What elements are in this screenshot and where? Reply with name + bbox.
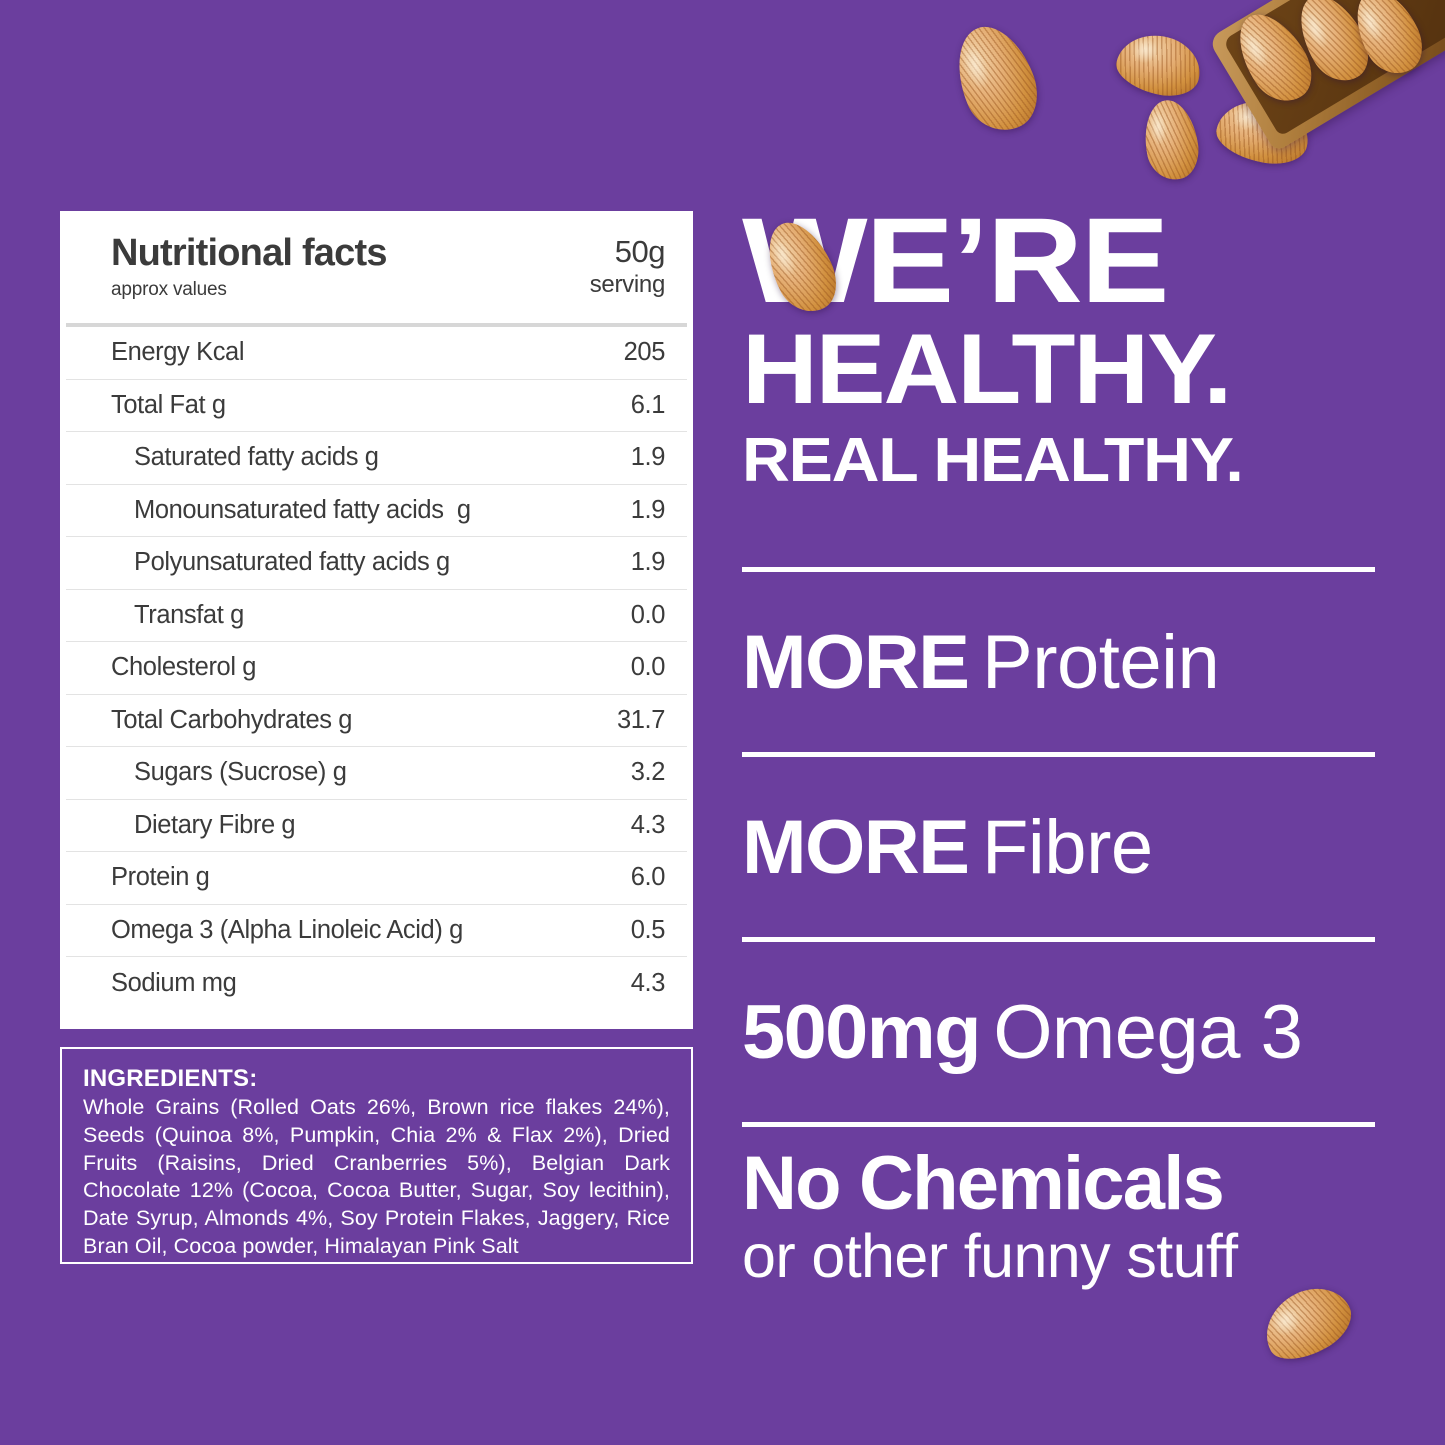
nutrition-row-label: Dietary Fibre g bbox=[134, 811, 295, 840]
ingredients-box: INGREDIENTS: Whole Grains (Rolled Oats 2… bbox=[60, 1047, 693, 1264]
nutrition-row-label: Monounsaturated fatty acids g bbox=[134, 496, 471, 525]
headline-line-2: HEALTHY. bbox=[742, 319, 1416, 418]
nutrition-row: Protein g6.0 bbox=[66, 852, 687, 905]
claim-strong-text: 500mg bbox=[742, 989, 980, 1076]
nutrition-row: Polyunsaturated fatty acids g1.9 bbox=[66, 537, 687, 590]
nutrition-row-label: Energy Kcal bbox=[111, 338, 244, 367]
nutrition-row-label: Protein g bbox=[111, 863, 209, 892]
claim-light-text: or other funny stuff bbox=[742, 1224, 1238, 1288]
nutrition-row-label: Transfat g bbox=[134, 601, 244, 630]
nutrition-row-value: 1.9 bbox=[631, 548, 665, 577]
nutrition-row: Monounsaturated fatty acids g1.9 bbox=[66, 485, 687, 538]
nutrition-row-value: 4.3 bbox=[631, 969, 665, 998]
claim-item: MOREProtein bbox=[742, 572, 1378, 752]
nutrition-row: Total Fat g6.1 bbox=[66, 380, 687, 433]
nutrition-row-label: Polyunsaturated fatty acids g bbox=[134, 548, 450, 577]
nutrition-row: Total Carbohydrates g31.7 bbox=[66, 695, 687, 748]
claim-item: No Chemicalsor other funny stuff bbox=[742, 1127, 1378, 1307]
nutrition-row-value: 1.9 bbox=[631, 496, 665, 525]
nutrition-row-value: 1.9 bbox=[631, 443, 665, 472]
nutrition-row-value: 31.7 bbox=[617, 706, 665, 735]
claim-strong-text: MORE bbox=[742, 804, 968, 891]
ingredients-body: Whole Grains (Rolled Oats 26%, Brown ric… bbox=[83, 1094, 670, 1261]
nutrition-row: Sugars (Sucrose) g3.2 bbox=[66, 747, 687, 800]
nutrition-title: Nutritional facts bbox=[111, 234, 387, 274]
serving-size: 50g serving bbox=[590, 234, 665, 299]
ingredients-title: INGREDIENTS: bbox=[83, 1065, 670, 1093]
claim-light-text: Protein bbox=[982, 619, 1219, 706]
claim-item: MOREFibre bbox=[742, 757, 1378, 937]
nutrition-row: Cholesterol g0.0 bbox=[66, 642, 687, 695]
headline-line-3: REAL HEALTHY. bbox=[742, 430, 1423, 492]
serving-label: serving bbox=[590, 271, 665, 299]
claim-light-text: Omega 3 bbox=[993, 989, 1302, 1076]
claim-item: 500mgOmega 3 bbox=[742, 942, 1378, 1122]
nutrition-row: Transfat g0.0 bbox=[66, 590, 687, 643]
headline: WE’RE HEALTHY. REAL HEALTHY. bbox=[742, 204, 1378, 492]
nutrition-row-label: Total Carbohydrates g bbox=[111, 706, 352, 735]
nutrition-row-value: 6.0 bbox=[631, 863, 665, 892]
serving-amount: 50g bbox=[590, 234, 665, 271]
nutrition-row: Dietary Fibre g4.3 bbox=[66, 800, 687, 853]
nutrition-subtitle: approx values bbox=[111, 279, 387, 301]
nutrition-row: Energy Kcal205 bbox=[66, 327, 687, 380]
nutrition-row-label: Total Fat g bbox=[111, 391, 226, 420]
claim-strong-text: MORE bbox=[742, 619, 968, 706]
claim-strong-text: No Chemicals bbox=[742, 1146, 1223, 1222]
nutrition-row-value: 0.0 bbox=[631, 601, 665, 630]
nutrition-row-label: Saturated fatty acids g bbox=[134, 443, 379, 472]
nutrition-row-value: 205 bbox=[624, 338, 665, 367]
claim-light-text: Fibre bbox=[982, 804, 1153, 891]
nutrition-facts-card: Nutritional facts approx values 50g serv… bbox=[60, 211, 693, 1029]
nutrition-row-value: 4.3 bbox=[631, 811, 665, 840]
nutrition-rows: Energy Kcal205Total Fat g6.1Saturated fa… bbox=[66, 327, 687, 1010]
nutrition-row-value: 3.2 bbox=[631, 758, 665, 787]
claims-list: MOREProteinMOREFibre500mgOmega 3No Chemi… bbox=[742, 567, 1378, 1307]
marketing-panel: WE’RE HEALTHY. REAL HEALTHY. MOREProtein… bbox=[742, 0, 1378, 1445]
nutrition-row-label: Sugars (Sucrose) g bbox=[134, 758, 346, 787]
nutrition-row-label: Omega 3 (Alpha Linoleic Acid) g bbox=[111, 916, 463, 945]
nutrition-row-value: 0.5 bbox=[631, 916, 665, 945]
nutrition-row-label: Sodium mg bbox=[111, 969, 236, 998]
nutrition-row-label: Cholesterol g bbox=[111, 653, 256, 682]
nutrition-header: Nutritional facts approx values 50g serv… bbox=[66, 217, 687, 323]
nutrition-row-value: 0.0 bbox=[631, 653, 665, 682]
nutrition-row: Saturated fatty acids g1.9 bbox=[66, 432, 687, 485]
nutrition-row: Omega 3 (Alpha Linoleic Acid) g0.5 bbox=[66, 905, 687, 958]
headline-line-1: WE’RE bbox=[742, 204, 1442, 317]
nutrition-row-value: 6.1 bbox=[631, 391, 665, 420]
nutrition-row: Sodium mg4.3 bbox=[66, 957, 687, 1010]
